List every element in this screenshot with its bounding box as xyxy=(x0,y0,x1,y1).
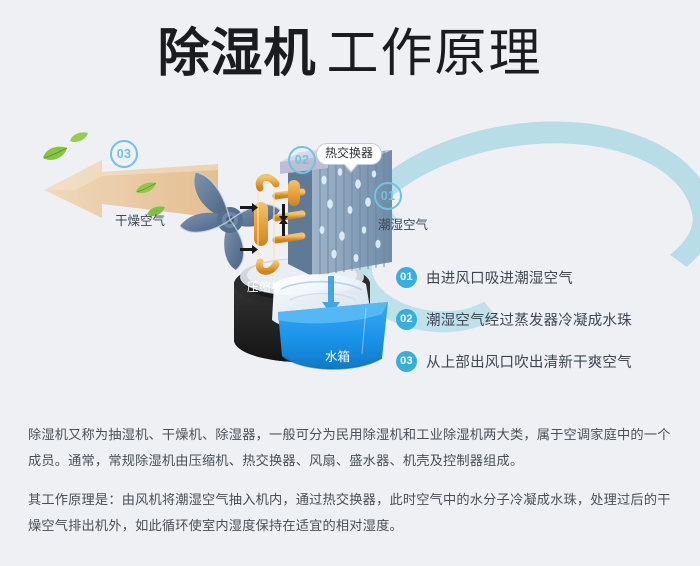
leaf-icon xyxy=(69,132,89,146)
label-compressor: 压缩机 xyxy=(247,279,283,295)
legend-item: 02 潮湿空气经过蒸发器冷凝成水珠 xyxy=(396,298,686,340)
label-dry-air: 干燥空气 xyxy=(115,210,165,229)
page-title: 除湿机工作原理 xyxy=(0,28,700,80)
legend-badge-03: 03 xyxy=(396,351,417,372)
diagram-badge-03: 03 xyxy=(110,140,138,168)
leaf-icon xyxy=(135,182,157,197)
legend-list: 01 由进风口吸进潮湿空气 02 潮湿空气经过蒸发器冷凝成水珠 03 从上部出风… xyxy=(396,256,686,382)
legend-badge-02: 02 xyxy=(396,309,417,330)
legend-text-01: 由进风口吸进潮湿空气 xyxy=(426,267,573,288)
diagram-badge-01: 01 xyxy=(374,182,402,210)
infographic-page: 除湿机工作原理 xyxy=(0,0,700,566)
label-water-tank: 水箱 xyxy=(325,346,350,365)
leaf-icon xyxy=(42,146,68,164)
description-block: 除湿机又称为抽湿机、干燥机、除湿器，一般可分为民用除湿机和工业除湿机两大类，属于… xyxy=(28,422,676,539)
description-paragraph-2: 其工作原理是：由风机将潮湿空气抽入机内，通过热交换器，此时空气中的水分子冷凝成水… xyxy=(28,487,676,538)
title-strong: 除湿机 xyxy=(157,25,316,83)
description-paragraph-1: 除湿机又称为抽湿机、干燥机、除湿器，一般可分为民用除湿机和工业除湿机两大类，属于… xyxy=(28,422,676,473)
legend-item: 01 由进风口吸进潮湿空气 xyxy=(396,256,686,298)
legend-text-02: 潮湿空气经过蒸发器冷凝成水珠 xyxy=(426,309,632,330)
callout-heat-exchanger: 热交换器 xyxy=(316,143,382,165)
legend-text-03: 从上部出风口吹出清新干爽空气 xyxy=(426,351,632,372)
label-humid-air: 潮湿空气 xyxy=(378,214,428,233)
legend-badge-01: 01 xyxy=(396,267,417,288)
legend-item: 03 从上部出风口吹出清新干爽空气 xyxy=(396,340,686,382)
diagram-badge-02: 02 xyxy=(288,146,316,174)
title-light: 工作原理 xyxy=(327,25,543,83)
